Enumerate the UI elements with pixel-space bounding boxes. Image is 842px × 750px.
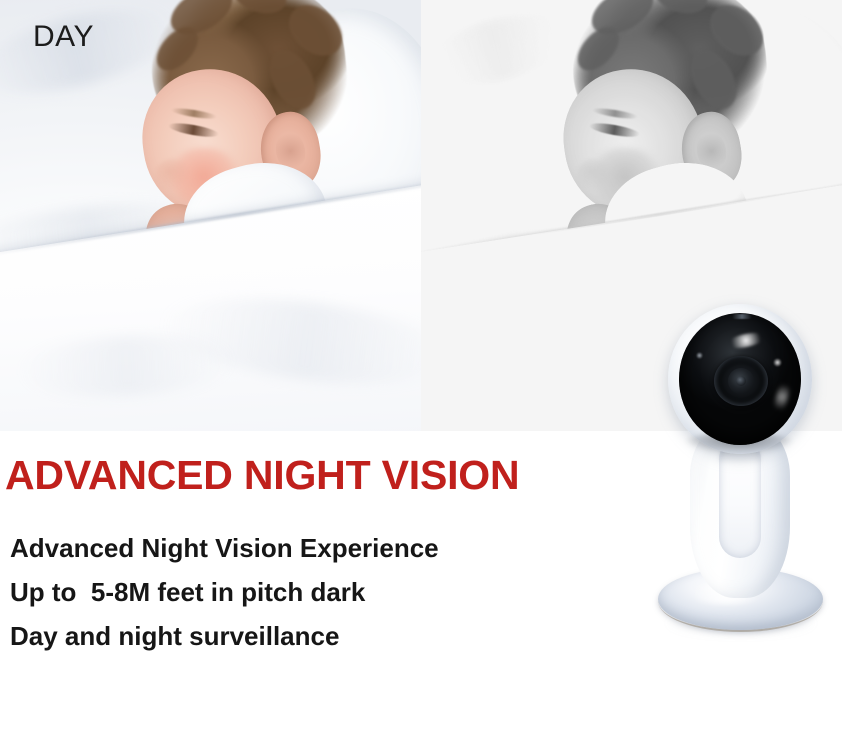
- feature-list: Advanced Night Vision Experience Up to 5…: [10, 526, 630, 658]
- baby-nose: [156, 159, 190, 189]
- day-label: DAY: [33, 22, 94, 52]
- camera-lens-aperture: [736, 376, 746, 386]
- baby-nose: [577, 159, 611, 189]
- lens-highlight: [696, 352, 703, 359]
- day-photo-panel: DAY: [0, 0, 421, 431]
- lens-highlight: [773, 358, 782, 367]
- feature-line: Up to 5-8M feet in pitch dark: [10, 570, 630, 614]
- security-camera-product-image: [640, 300, 840, 630]
- advertisement-banner: DAY: [0, 0, 842, 750]
- headline: ADVANCED NIGHT VISION: [5, 455, 519, 496]
- feature-line: Advanced Night Vision Experience: [10, 526, 630, 570]
- camera-top-notch: [732, 314, 752, 319]
- feature-line: Day and night surveillance: [10, 614, 630, 658]
